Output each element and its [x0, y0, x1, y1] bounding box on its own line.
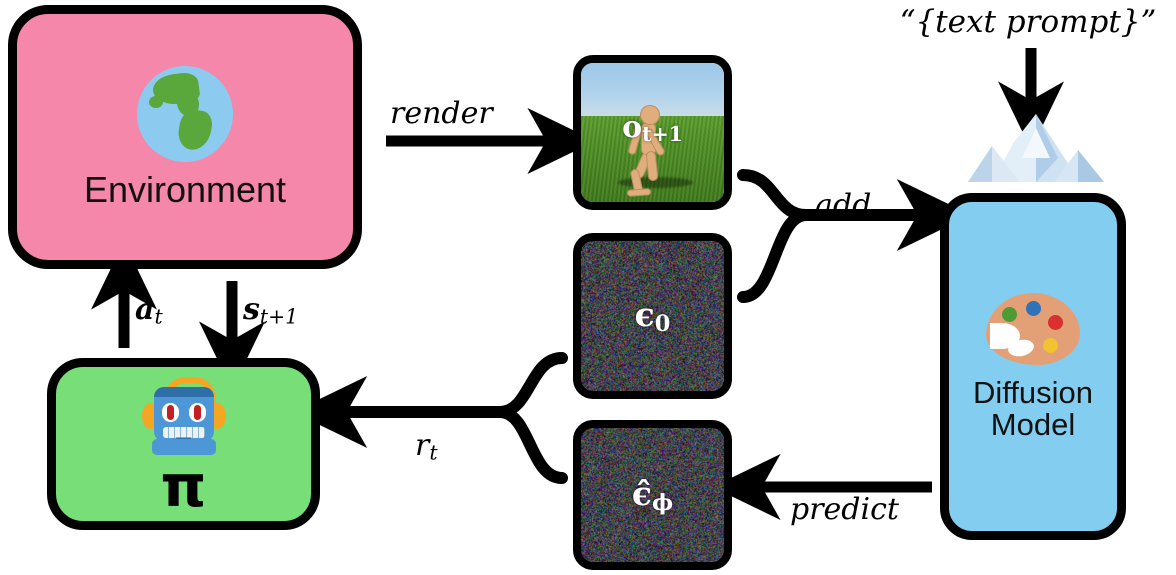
- text-prompt[interactable]: “{text prompt}”: [880, 4, 1176, 40]
- noise-predicted-tile[interactable]: ϵ̂ϕ: [573, 420, 732, 570]
- palette-icon: [986, 293, 1080, 365]
- mountain-icon: [962, 112, 1110, 198]
- observation-tile[interactable]: ot+1: [573, 55, 732, 210]
- edge-label-predict: predict: [790, 492, 899, 527]
- edge-label-render: render: [390, 96, 493, 131]
- diagram-canvas: Environment π ot+1 ϵ0: [0, 0, 1176, 575]
- diffusion-model-node[interactable]: Diffusion Model: [940, 193, 1126, 540]
- noise-initial-tile[interactable]: ϵ0: [573, 233, 732, 399]
- policy-node[interactable]: π: [47, 358, 320, 530]
- edge-label-state: st+1: [243, 292, 298, 328]
- environment-node[interactable]: Environment: [8, 5, 362, 269]
- arrow-add-branch-top: [743, 175, 806, 215]
- edge-label-add: add: [815, 188, 871, 223]
- noise-initial-label: ϵ0: [581, 295, 724, 337]
- edge-label-reward: rt: [415, 428, 438, 464]
- edge-label-action: at: [135, 292, 163, 328]
- policy-label: π: [161, 461, 207, 512]
- arrow-reward-branch-top: [500, 358, 562, 412]
- noise-predicted-label: ϵ̂ϕ: [581, 474, 724, 516]
- observation-label: ot+1: [581, 110, 724, 146]
- robot-icon: [138, 375, 230, 459]
- environment-label: Environment: [84, 172, 286, 209]
- diffusion-model-label: Diffusion Model: [973, 377, 1093, 440]
- arrow-reward-branch-bottom: [500, 412, 562, 478]
- arrow-add-branch-bottom: [743, 215, 806, 297]
- globe-icon: [137, 66, 233, 162]
